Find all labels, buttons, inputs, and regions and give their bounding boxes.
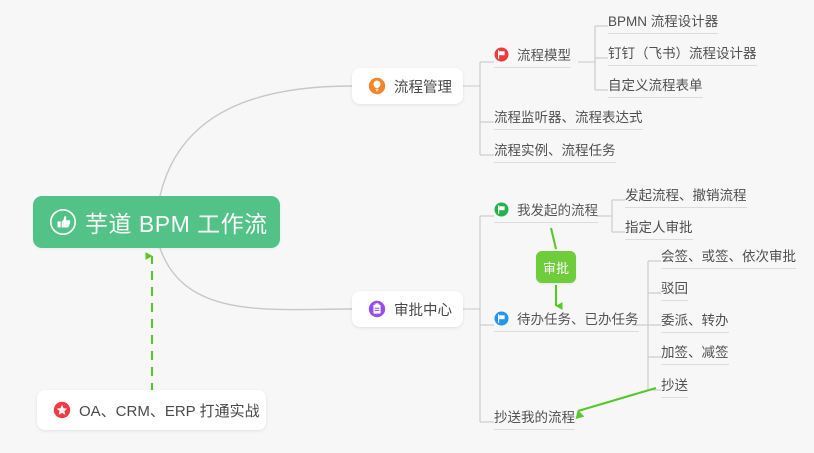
leaf-label-cc-to-me: 抄送我的流程: [494, 406, 575, 426]
leaf-node-custom-form[interactable]: 自定义流程表单: [608, 74, 703, 98]
branch-node-approval-center[interactable]: 审批中心: [352, 291, 463, 327]
leaf-label-custom-form: 自定义流程表单: [608, 74, 703, 94]
approval-badge-label: 审批: [543, 258, 569, 277]
leaf-node-bpmn-designer[interactable]: BPMN 流程设计器: [608, 10, 718, 34]
leaf-node-add-remove-sign[interactable]: 加签、减签: [661, 341, 729, 365]
red-flag-icon: [494, 47, 509, 62]
arrow-initiated-to-badge: [551, 228, 556, 249]
sub-label-todo-done-tasks: 待办任务、已办任务: [517, 308, 639, 328]
leaf-label-assignee-approval: 指定人审批: [625, 216, 693, 236]
leaf-node-countersign[interactable]: 会签、或签、依次审批: [661, 245, 796, 269]
leaf-label-bpmn-designer: BPMN 流程设计器: [608, 10, 718, 30]
sub-node-my-initiated[interactable]: 我发起的流程: [494, 199, 598, 223]
leaf-node-reject[interactable]: 驳回: [661, 277, 688, 301]
leaf-label-reject: 驳回: [661, 277, 688, 297]
thumbs-up-icon: [50, 209, 76, 235]
leaf-node-start-cancel-process[interactable]: 发起流程、撤销流程: [625, 184, 747, 208]
branch-label-approval-center: 审批中心: [394, 299, 452, 320]
leaf-node-cc-to-me[interactable]: 抄送我的流程: [494, 406, 575, 430]
branch-node-process-management[interactable]: 流程管理: [352, 68, 463, 104]
approval-badge: 审批: [536, 251, 576, 283]
leaf-node-process-instance[interactable]: 流程实例、流程任务: [494, 139, 616, 163]
leaf-label-dingtalk-designer: 钉钉（飞书）流程设计器: [608, 42, 757, 62]
clipboard-icon: [368, 300, 386, 318]
leaf-node-process-listener[interactable]: 流程监听器、流程表达式: [494, 106, 643, 130]
lightbulb-icon: [368, 77, 386, 95]
green-flag-icon: [494, 202, 509, 217]
link-root-to-process-management: [160, 86, 352, 196]
branch-label-process-management: 流程管理: [394, 76, 452, 97]
leaf-label-countersign: 会签、或签、依次审批: [661, 245, 796, 265]
link-root-to-approval-center: [160, 248, 352, 310]
arrow-cc-to-ccme: [578, 388, 656, 411]
leaf-label-add-remove-sign: 加签、减签: [661, 341, 729, 361]
sub-label-my-initiated: 我发起的流程: [517, 199, 598, 219]
root-label: 芋道 BPM 工作流: [85, 205, 268, 239]
sub-node-todo-done-tasks[interactable]: 待办任务、已办任务: [494, 308, 639, 332]
blue-flag-icon: [494, 311, 509, 326]
bottom-note-label: OA、CRM、ERP 打通实战: [79, 400, 260, 421]
leaf-label-delegate-transfer: 委派、转办: [661, 309, 729, 329]
leaf-node-dingtalk-designer[interactable]: 钉钉（飞书）流程设计器: [608, 42, 757, 66]
leaf-label-process-instance: 流程实例、流程任务: [494, 139, 616, 159]
mindmap-canvas: 芋道 BPM 工作流 OA、CRM、ERP 打通实战 流程管理: [0, 0, 814, 453]
leaf-label-process-listener: 流程监听器、流程表达式: [494, 106, 643, 126]
sub-label-process-model: 流程模型: [517, 44, 571, 64]
root-node[interactable]: 芋道 BPM 工作流: [33, 196, 280, 248]
leaf-node-delegate-transfer[interactable]: 委派、转办: [661, 309, 729, 333]
leaf-label-cc: 抄送: [661, 374, 688, 394]
sub-node-process-model[interactable]: 流程模型: [494, 44, 571, 68]
leaf-label-start-cancel-process: 发起流程、撤销流程: [625, 184, 747, 204]
leaf-node-cc[interactable]: 抄送: [661, 374, 688, 398]
leaf-node-assignee-approval[interactable]: 指定人审批: [625, 216, 693, 240]
bottom-note-node[interactable]: OA、CRM、ERP 打通实战: [37, 390, 266, 430]
star-icon: [53, 401, 71, 419]
